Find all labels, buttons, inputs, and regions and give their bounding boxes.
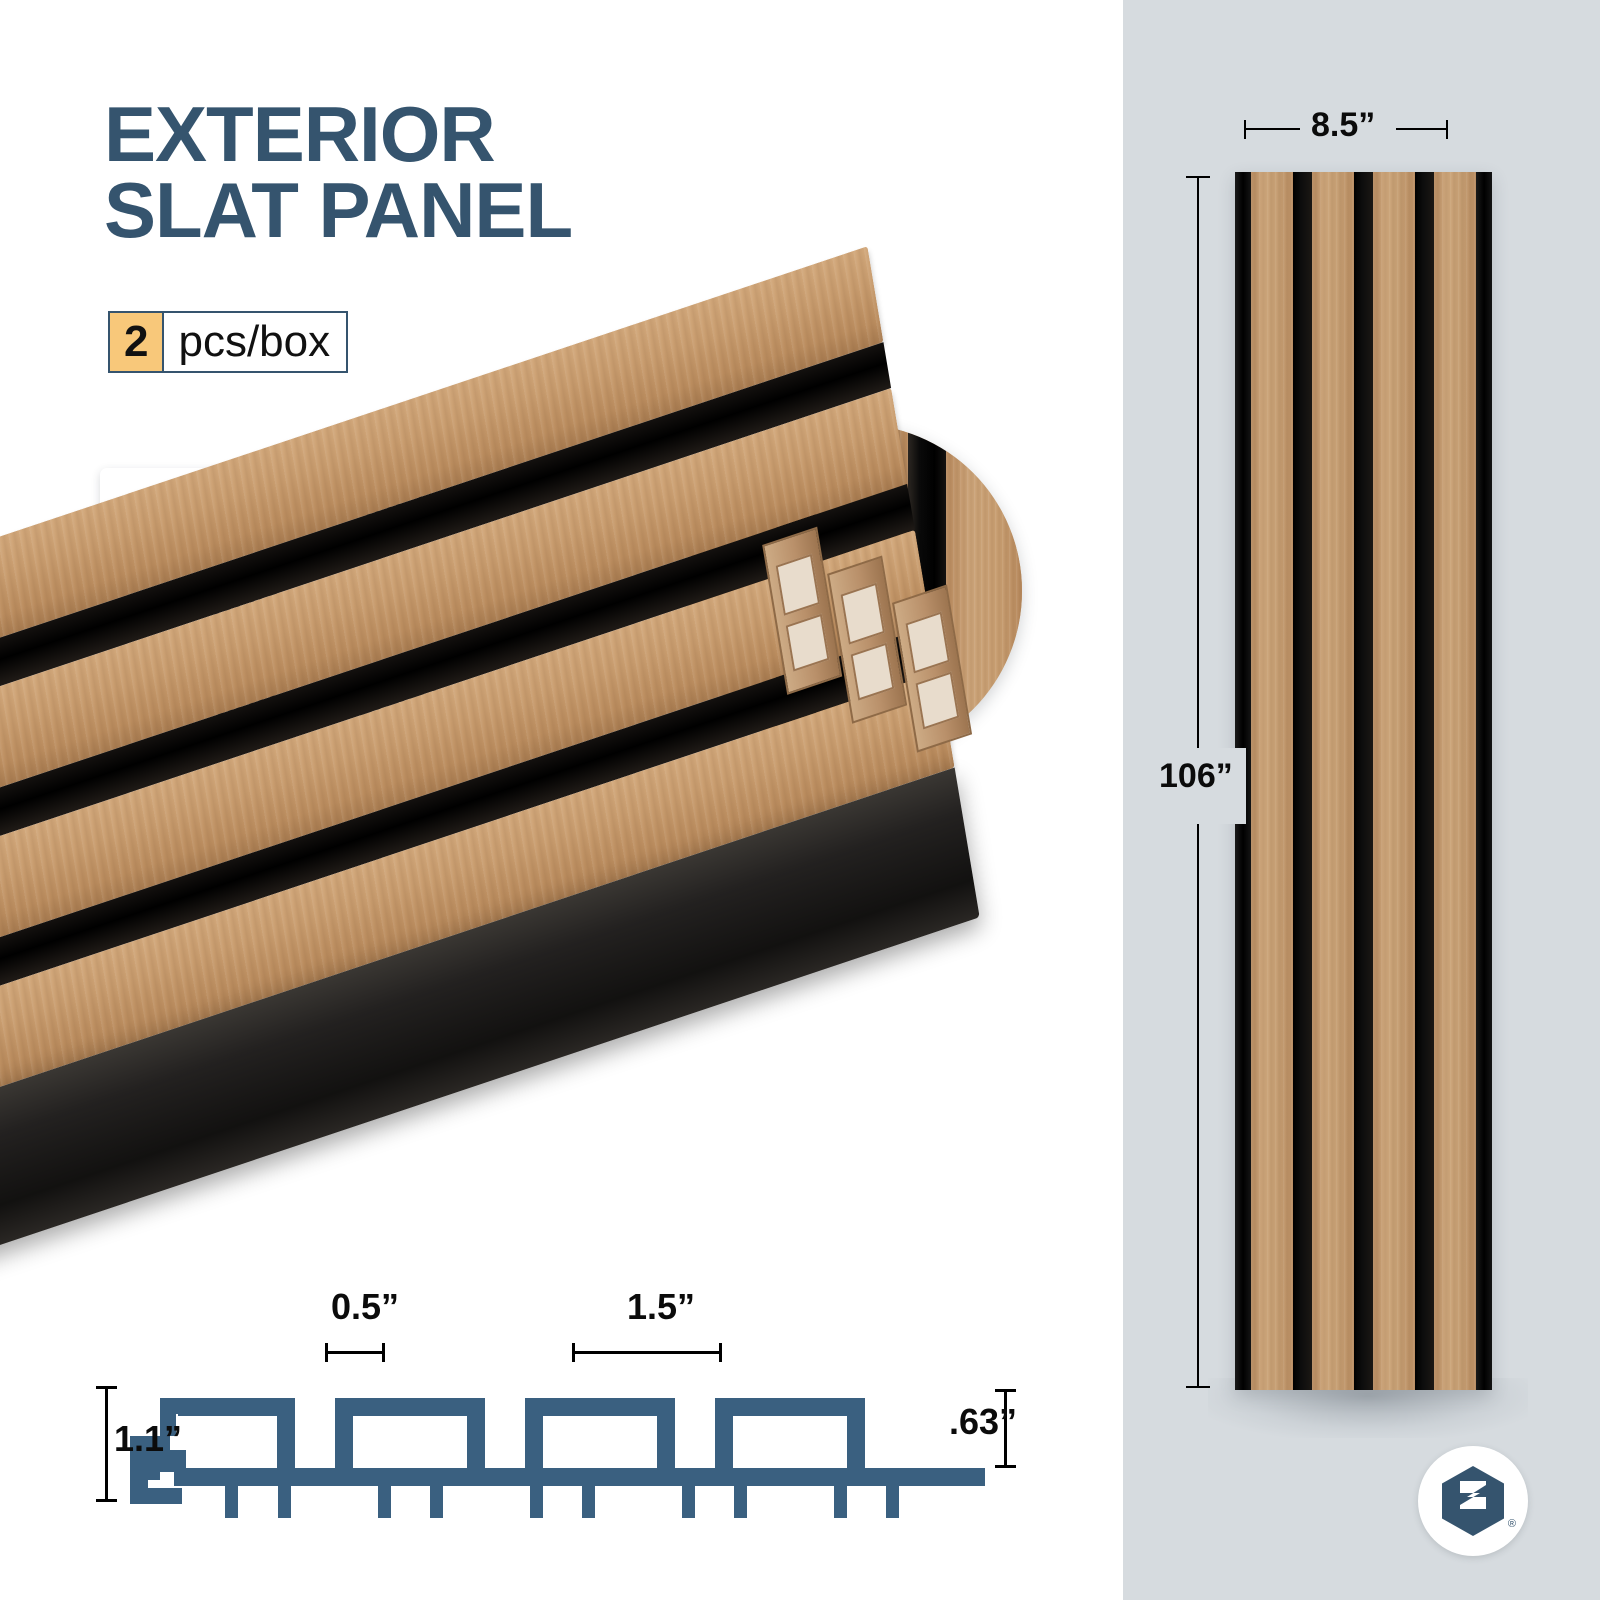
height-dimension-tick-bottom [1186,1386,1210,1388]
width-dimension-label: 8.5” [1311,106,1375,145]
groove-gap-dimension-line [325,1351,385,1354]
panel-right-edge [1476,172,1492,1390]
width-dimension-tick-left [1244,120,1246,139]
pcs-per-box-badge: 2 pcs/box [108,311,348,373]
cross-section-profile-diagram [130,1380,1020,1520]
hexagon-s-logo-icon [1441,1466,1505,1536]
groove-gap-dimension-label: 0.5” [331,1286,399,1328]
chamber-depth-dimension-label: .63” [949,1401,1017,1443]
panel-slat [1312,172,1354,1390]
panel-groove [1293,172,1312,1390]
panel-slat [1251,172,1293,1390]
registered-trademark-icon: ® [1508,1518,1516,1530]
panel-slat [1373,172,1415,1390]
total-depth-dimension-label: 1.1” [114,1418,182,1460]
panel-slat [1434,172,1476,1390]
slat-width-tick-left [572,1343,575,1362]
total-depth-tick-bottom [96,1499,117,1502]
groove-gap-tick-left [325,1343,328,1362]
total-depth-dimension-line [105,1386,108,1502]
slat-panel-front-view [1235,172,1492,1390]
width-dimension-tick-right [1446,120,1448,139]
brand-logo: ® [1418,1446,1528,1556]
height-dimension-tick-top [1186,176,1210,178]
groove-gap-tick-right [382,1343,385,1362]
chamber-depth-tick-bottom [995,1465,1016,1468]
height-dimension-label: 106” [1159,757,1233,796]
slat-width-tick-right [719,1343,722,1362]
total-depth-tick-top [96,1386,117,1389]
page-title: EXTERIOR SLAT PANEL [104,96,904,249]
panel-groove [1415,172,1434,1390]
pcs-per-box-label: pcs/box [164,313,346,371]
chamber-depth-tick-top [995,1389,1016,1392]
page-title-line-2: SLAT PANEL [104,172,904,248]
page-title-line-1: EXTERIOR [104,96,904,172]
slat-width-dimension-label: 1.5” [627,1286,695,1328]
pcs-quantity: 2 [110,313,164,371]
slat-width-dimension-line [572,1351,722,1354]
panel-groove [1354,172,1373,1390]
